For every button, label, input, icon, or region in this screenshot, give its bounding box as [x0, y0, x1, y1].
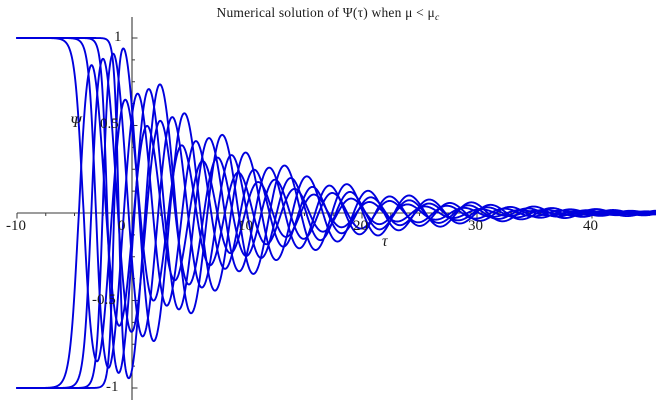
- y-tick-label-1: 1: [114, 30, 122, 45]
- x-tick-label-minus10: -10: [6, 219, 26, 234]
- curves-group: [17, 38, 655, 388]
- y-tick-label-minus0point5: -0.5: [92, 293, 116, 308]
- plot-canvas: [0, 0, 656, 400]
- x-tick-label-20: 20: [353, 219, 368, 234]
- chart-figure: Numerical solution of Ψ(τ) when μ < μc -…: [0, 0, 656, 400]
- x-axis-label: τ: [382, 234, 388, 250]
- y-tick-label-0point5: 0.5: [100, 117, 119, 132]
- x-tick-label-0: 0: [118, 219, 126, 234]
- y-tick-label-minus1: -1: [106, 380, 119, 395]
- x-tick-label-40: 40: [583, 219, 598, 234]
- x-tick-label-30: 30: [468, 219, 483, 234]
- x-tick-label-10: 10: [238, 219, 253, 234]
- y-axis-label: Ψ: [70, 115, 81, 131]
